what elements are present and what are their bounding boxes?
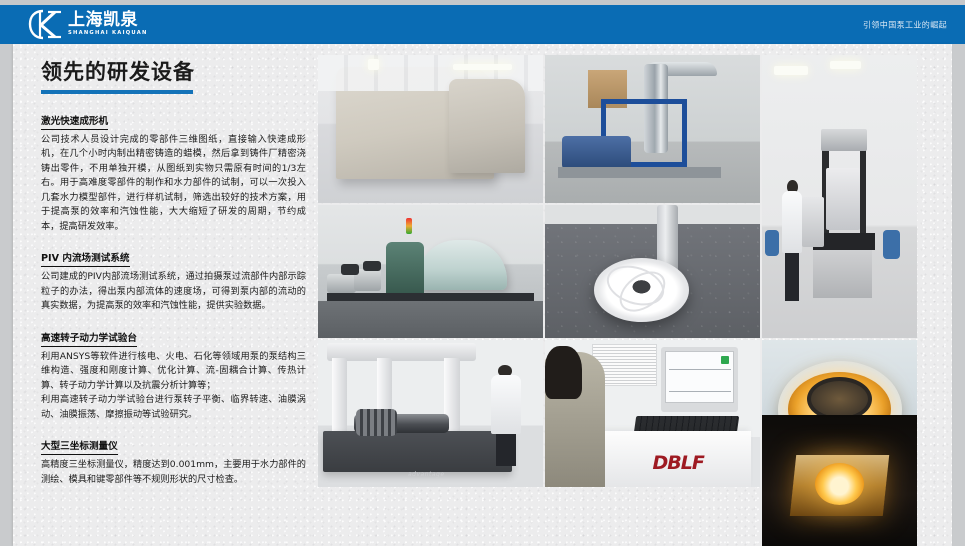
photo-glow-crucible[interactable] [762,415,917,546]
kaiquan-k-circle-logo-icon [28,9,62,40]
section-heading: 大型三坐标测量仪 [41,441,118,455]
section-piv-system: PIV 内流场测试系统 公司建成的PIV内部流场测试系统，通过拍摄泵过流部件内部… [41,246,306,314]
section-rotor-dynamics: 高速转子动力学试验台 利用ANSYS等软件进行核电、火电、石化等领域用泵的泵结构… [41,326,306,423]
section-body: 公司建成的PIV内部流场测试系统，通过拍摄泵过流部件内部示踪粒子的办法，得出泵内… [41,270,306,314]
section-heading: 高速转子动力学试验台 [41,333,137,347]
site-header: 上海凯泉 SHANGHAI KAIQUAN 引领中国泵工业的崛起 [0,5,965,44]
section-laser-prototyping: 激光快速成形机 公司技术人员设计完成的零部件三维图纸，直接输入快速成形机，在几个… [41,109,306,235]
section-body: 利用ANSYS等软件进行核电、火电、石化等领域用泵的泵结构三维构造、强度和刚度计… [41,350,306,423]
photo-rotor-dynamics-test-bed[interactable] [318,205,543,338]
section-cmm: 大型三坐标测量仪 高精度三坐标测量仪，精度达到0.001mm，主要用于水力部件的… [41,434,306,487]
section-heading: 激光快速成形机 [41,116,108,130]
cmm-brand-label: advantage [408,471,445,478]
photo-spectrometer-dblf[interactable]: DBLF [545,340,760,487]
brand-logo[interactable]: 上海凯泉 SHANGHAI KAIQUAN [28,9,148,40]
section-heading: PIV 内流场测试系统 [41,253,130,267]
photo-laser-prototyping-machine[interactable] [318,55,543,203]
page-title: 领先的研发设备 [41,60,306,85]
photo-piv-test-rig[interactable] [545,55,760,203]
photo-tensile-testing-machine[interactable] [762,55,917,338]
title-underline-rule [41,90,193,94]
dblf-brand-label: DBLF [653,452,704,474]
section-body: 高精度三坐标测量仪，精度达到0.001mm，主要用于水力部件的测绘、模具和键零部… [41,458,306,487]
brand-name-en: SHANGHAI KAIQUAN [68,31,148,36]
slide-page: 上海凯泉 SHANGHAI KAIQUAN 引领中国泵工业的崛起 领先的研发设备… [0,0,965,546]
photo-cmm-room-rotor[interactable]: advantage [318,340,543,487]
text-column: 领先的研发设备 激光快速成形机 公司技术人员设计完成的零部件三维图纸，直接输入快… [41,60,306,499]
brand-logo-text: 上海凯泉 SHANGHAI KAIQUAN [68,12,148,36]
slide-canvas: 领先的研发设备 激光快速成形机 公司技术人员设计完成的零部件三维图纸，直接输入快… [13,44,952,546]
section-body: 公司技术人员设计完成的零部件三维图纸，直接输入快速成形机，在几个小时内制出精密铸… [41,133,306,235]
header-slogan: 引领中国泵工业的崛起 [863,19,947,30]
brand-name-cn: 上海凯泉 [68,12,148,29]
photo-cmm-impeller-measurement[interactable] [545,205,760,338]
